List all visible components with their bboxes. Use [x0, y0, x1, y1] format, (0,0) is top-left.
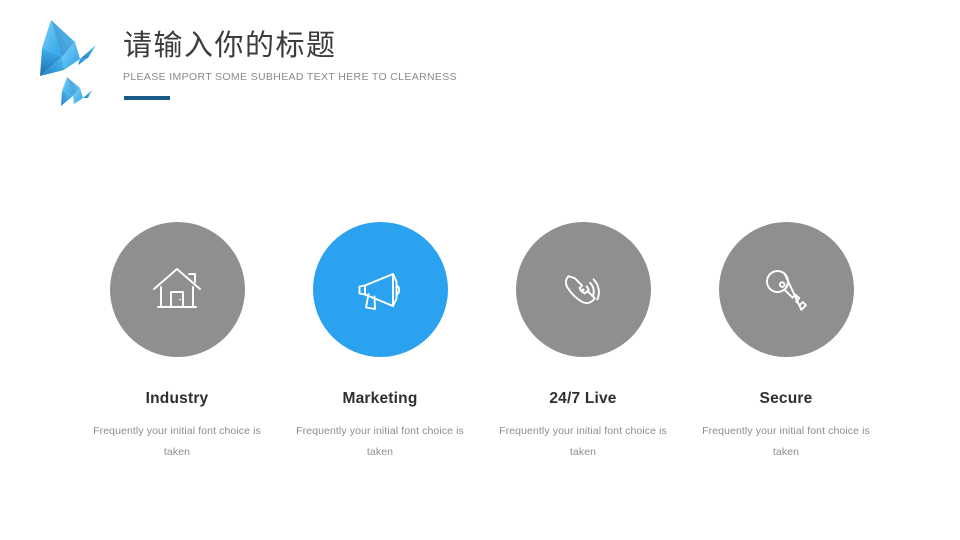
feature-card-marketing[interactable]: Marketing Frequently your initial font c…: [278, 222, 482, 463]
title-underline-rule: [124, 96, 170, 100]
card-title: Industry: [75, 389, 279, 409]
feature-card-24-7-live[interactable]: 24/7 Live Frequently your initial font c…: [481, 222, 685, 463]
page-title: 请输入你的标题: [123, 26, 723, 66]
megaphone-icon: [352, 262, 408, 318]
slide-canvas: 请输入你的标题 PLEASE IMPORT SOME SUBHEAD TEXT …: [0, 0, 960, 540]
slide-header: 请输入你的标题 PLEASE IMPORT SOME SUBHEAD TEXT …: [0, 0, 960, 130]
feature-card-secure[interactable]: Secure Frequently your initial font choi…: [684, 222, 888, 463]
phone-call-icon: [555, 262, 611, 318]
icon-circle-24-7-live[interactable]: [516, 222, 651, 357]
card-title: Marketing: [278, 389, 482, 409]
home-icon: [149, 262, 205, 318]
title-block: 请输入你的标题 PLEASE IMPORT SOME SUBHEAD TEXT …: [123, 26, 723, 85]
key-icon: [758, 262, 814, 318]
card-description: Frequently your initial font choice is t…: [278, 421, 482, 463]
card-title: 24/7 Live: [481, 389, 685, 409]
page-subtitle: PLEASE IMPORT SOME SUBHEAD TEXT HERE TO …: [123, 69, 723, 85]
icon-circle-industry[interactable]: [110, 222, 245, 357]
feature-card-row: Industry Frequently your initial font ch…: [0, 222, 960, 472]
card-description: Frequently your initial font choice is t…: [75, 421, 279, 463]
icon-circle-marketing[interactable]: [313, 222, 448, 357]
card-title: Secure: [684, 389, 888, 409]
card-description: Frequently your initial font choice is t…: [684, 421, 888, 463]
card-description: Frequently your initial font choice is t…: [481, 421, 685, 463]
origami-bird-logo: [18, 12, 122, 116]
feature-card-industry[interactable]: Industry Frequently your initial font ch…: [75, 222, 279, 463]
icon-circle-secure[interactable]: [719, 222, 854, 357]
